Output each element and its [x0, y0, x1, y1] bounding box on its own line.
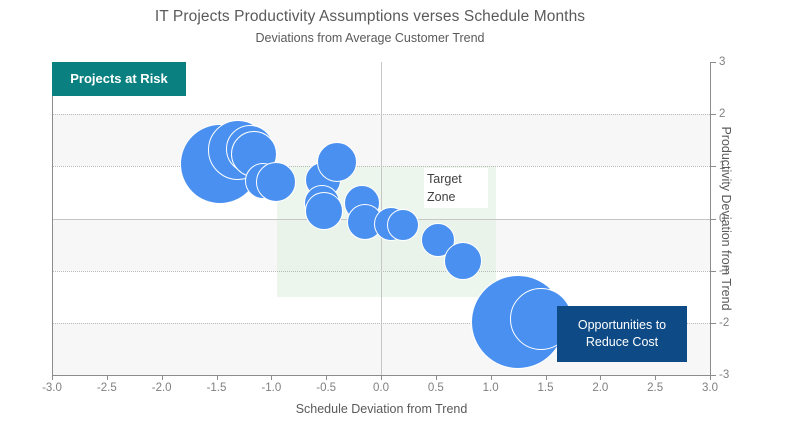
x-axis-tick-label: -2.0 [132, 382, 192, 394]
chart-subtitle: Deviations from Average Customer Trend [0, 31, 740, 45]
data-bubble[interactable] [305, 192, 343, 230]
x-axis-tick [600, 375, 601, 380]
x-axis-tick [162, 375, 163, 380]
x-axis-tick-label: -2.5 [77, 382, 137, 394]
chart-title: IT Projects Productivity Assumptions ver… [0, 8, 740, 26]
data-bubble[interactable] [317, 142, 357, 182]
x-axis-tick [436, 375, 437, 380]
x-axis-tick [381, 375, 382, 380]
x-axis-tick [491, 375, 492, 380]
y-axis-tick [710, 323, 716, 324]
x-axis-tick [217, 375, 218, 380]
annotation-projects-at-risk: Projects at Risk [52, 62, 186, 96]
target-zone-label-line1: Target [427, 170, 485, 188]
target-zone-label-line2: Zone [427, 188, 485, 206]
data-bubble[interactable] [387, 209, 419, 241]
y-axis-tick [710, 375, 716, 376]
axis-line-left [52, 62, 53, 375]
y-axis-tick [710, 166, 716, 167]
data-bubble[interactable] [256, 162, 296, 202]
y-axis-label: Productivity Deviation from Trend [717, 62, 735, 375]
x-axis-tick [107, 375, 108, 380]
x-axis-tick [271, 375, 272, 380]
y-axis-tick [710, 271, 716, 272]
x-axis-tick-label: -3.0 [22, 382, 82, 394]
x-axis-tick-label: -0.5 [296, 382, 356, 394]
x-axis-tick-label: 0.5 [406, 382, 466, 394]
x-axis-tick-label: 1.0 [461, 382, 521, 394]
annotation-opportunities-to-reduce-cost: Opportunities to Reduce Cost [557, 306, 687, 362]
x-axis-tick-label: 3.0 [680, 382, 740, 394]
y-axis-tick [710, 62, 716, 63]
target-zone-label: Target Zone [424, 168, 488, 208]
x-axis-tick [546, 375, 547, 380]
x-axis-tick-label: 2.0 [570, 382, 630, 394]
x-axis-tick-label: 0.0 [351, 382, 411, 394]
annotation-opportunity-line1: Opportunities to [578, 317, 666, 334]
x-axis-tick [326, 375, 327, 380]
x-axis-label: Schedule Deviation from Trend [52, 402, 711, 416]
y-axis-tick [710, 219, 716, 220]
annotation-opportunity-line2: Reduce Cost [578, 334, 666, 351]
bubble-chart: IT Projects Productivity Assumptions ver… [0, 0, 792, 442]
x-axis-tick-label: 1.5 [516, 382, 576, 394]
x-axis-tick [655, 375, 656, 380]
x-axis-tick [52, 375, 53, 380]
x-axis-tick-label: 2.5 [625, 382, 685, 394]
x-axis-tick-label: -1.5 [187, 382, 247, 394]
x-axis-tick-label: -1.0 [241, 382, 301, 394]
y-axis-tick [710, 114, 716, 115]
